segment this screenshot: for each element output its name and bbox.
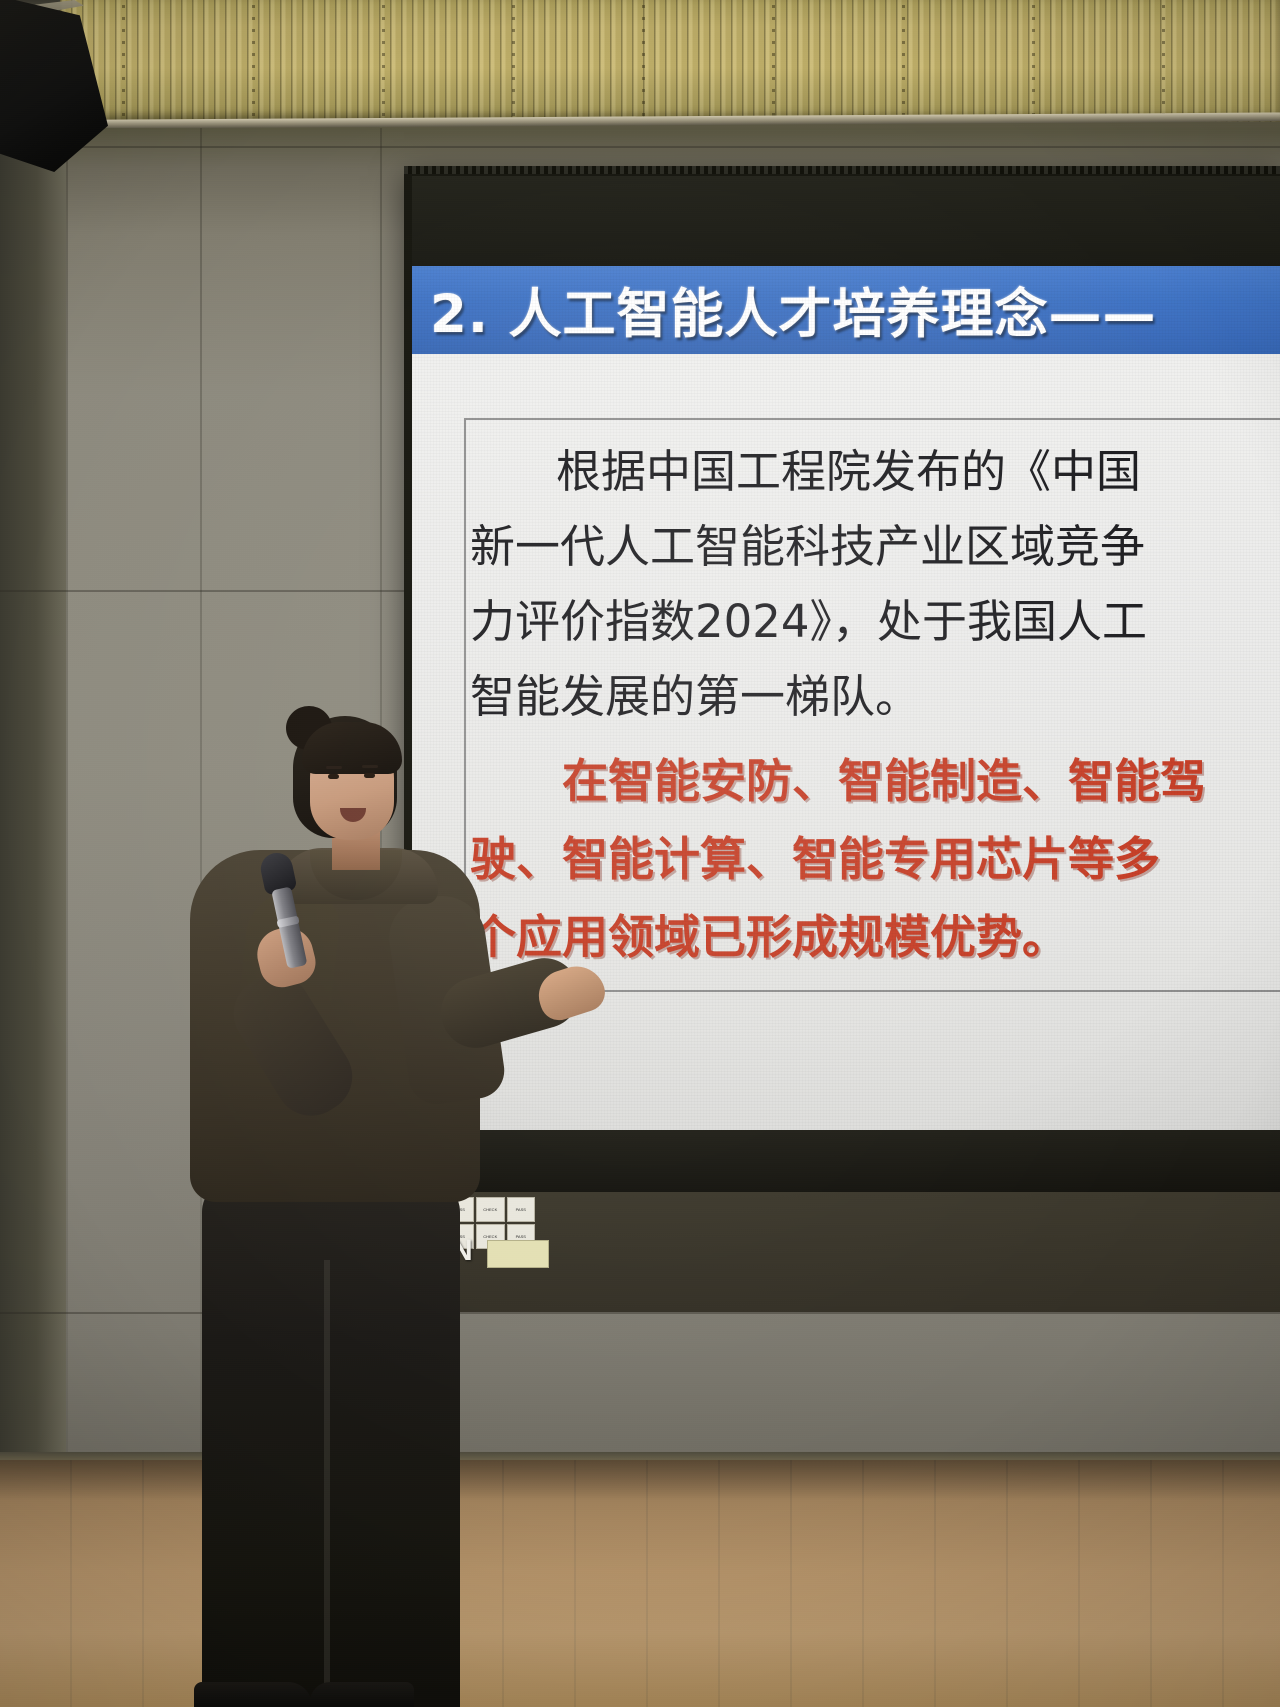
body-line: 力评价指数2024》，处于我国人工 — [470, 584, 1280, 659]
body-line-text: 根据中国工程院发布的《中国 — [556, 445, 1141, 498]
body-line: 智能发展的第一梯队。 — [470, 659, 1280, 734]
body-line-text: 力评价指数2024》，处于我国人工 — [470, 595, 1147, 648]
body-line: 根据中国工程院发布的《中国 — [470, 434, 1280, 509]
presenter-shoe — [310, 1682, 414, 1707]
presenter-trousers — [202, 1180, 460, 1707]
wall-seam — [0, 146, 1280, 148]
slide-title-bar: 2. 人工智能人才培养理念—— — [412, 266, 1280, 354]
ceiling-perforations — [60, 4, 1280, 116]
highlight-line: 个应用领域已形成规模优势。 — [470, 898, 1280, 976]
wall-seam — [66, 128, 68, 1460]
screen-letterbox-top — [412, 176, 1280, 268]
highlight-line: 驶、智能计算、智能专用芯片等多 — [470, 820, 1280, 898]
presenter-eyebrow — [362, 765, 378, 768]
presenter-shoe — [194, 1682, 312, 1707]
slide-title: 2. 人工智能人才培养理念—— — [412, 272, 1156, 348]
highlight-line-text: 在智能安防、智能制造、智能驾 — [562, 754, 1206, 808]
presenter-eyebrow — [326, 766, 342, 769]
trouser-seam — [324, 1260, 330, 1700]
presenter-eye — [364, 773, 375, 778]
highlight-line: 在智能安防、智能制造、智能驾 — [470, 742, 1280, 820]
slide-highlight-paragraph: 在智能安防、智能制造、智能驾 驶、智能计算、智能专用芯片等多 个应用领域已形成规… — [470, 742, 1280, 976]
slide-body-paragraph: 根据中国工程院发布的《中国 新一代人工智能科技产业区域竞争 力评价指数2024》… — [470, 434, 1280, 734]
body-line: 新一代人工智能科技产业区域竞争 — [470, 509, 1280, 584]
screen-bezel — [404, 166, 1280, 174]
presenter-eye — [328, 774, 339, 779]
body-line-text: 新一代人工智能科技产业区域竞争 — [470, 520, 1145, 573]
presenter — [150, 700, 590, 1707]
presenter-fringe — [302, 722, 402, 774]
wall-dark-left-strip — [0, 128, 66, 1460]
lecture-hall-photo: 2. 人工智能人才培养理念—— 根据中国工程院发布的《中国 新一代人工智能科技产… — [0, 0, 1280, 1707]
